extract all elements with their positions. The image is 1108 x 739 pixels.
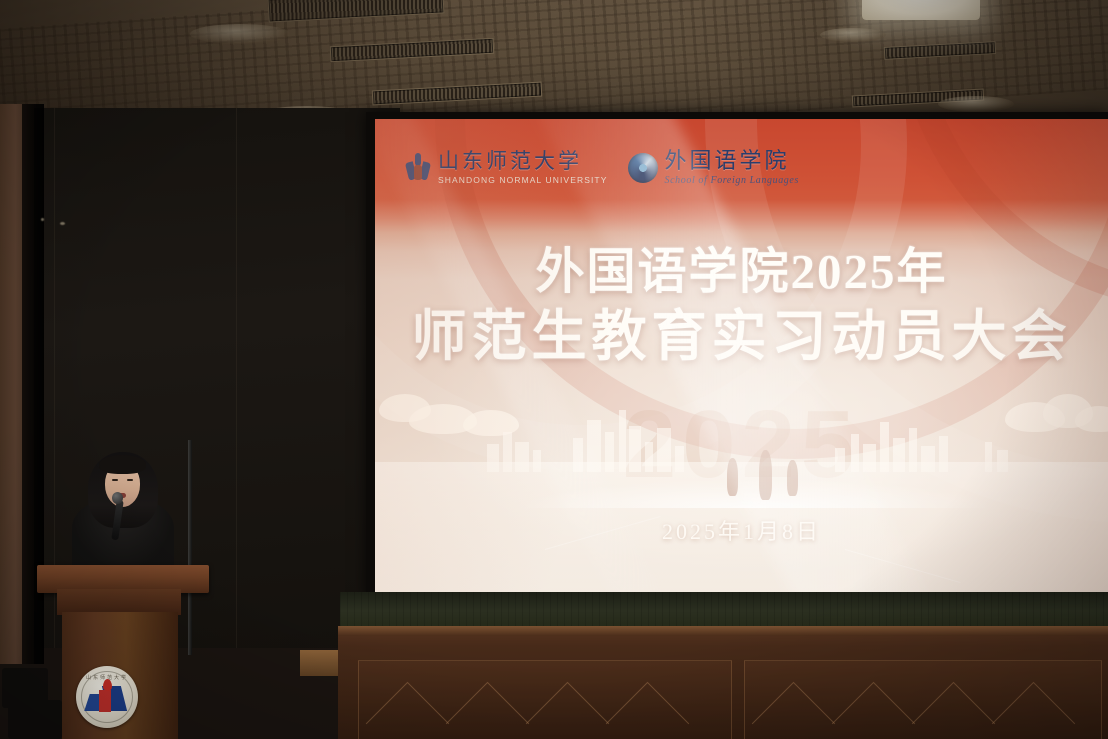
emblem-flame xyxy=(103,679,112,691)
speaker-fringe xyxy=(99,455,146,474)
wall-highlight xyxy=(60,222,65,225)
ceiling-shadow-gradient xyxy=(0,0,1108,118)
speaker-eye xyxy=(127,479,133,481)
wall-seam xyxy=(236,108,237,648)
speaker-eye xyxy=(112,479,118,481)
stage-back-panel xyxy=(340,592,1108,630)
stage-top-rail xyxy=(338,626,1108,636)
projection-screen: 山东师范大学 SHANDONG NORMAL UNIVERSITY 外国语学院 … xyxy=(375,119,1108,592)
microphone-head xyxy=(112,492,123,504)
wall-highlight xyxy=(41,218,44,221)
acoustic-ceiling xyxy=(0,0,1108,118)
microphone-stand xyxy=(188,440,192,655)
background-furniture xyxy=(8,700,62,739)
auditorium-scene: 山东师范大学 SHANDONG NORMAL UNIVERSITY 外国语学院 … xyxy=(0,0,1108,739)
emblem-shape-center xyxy=(99,690,111,712)
panel-texture xyxy=(340,592,1108,630)
shandong-normal-university-emblem: 山东师范大学 xyxy=(76,666,138,728)
